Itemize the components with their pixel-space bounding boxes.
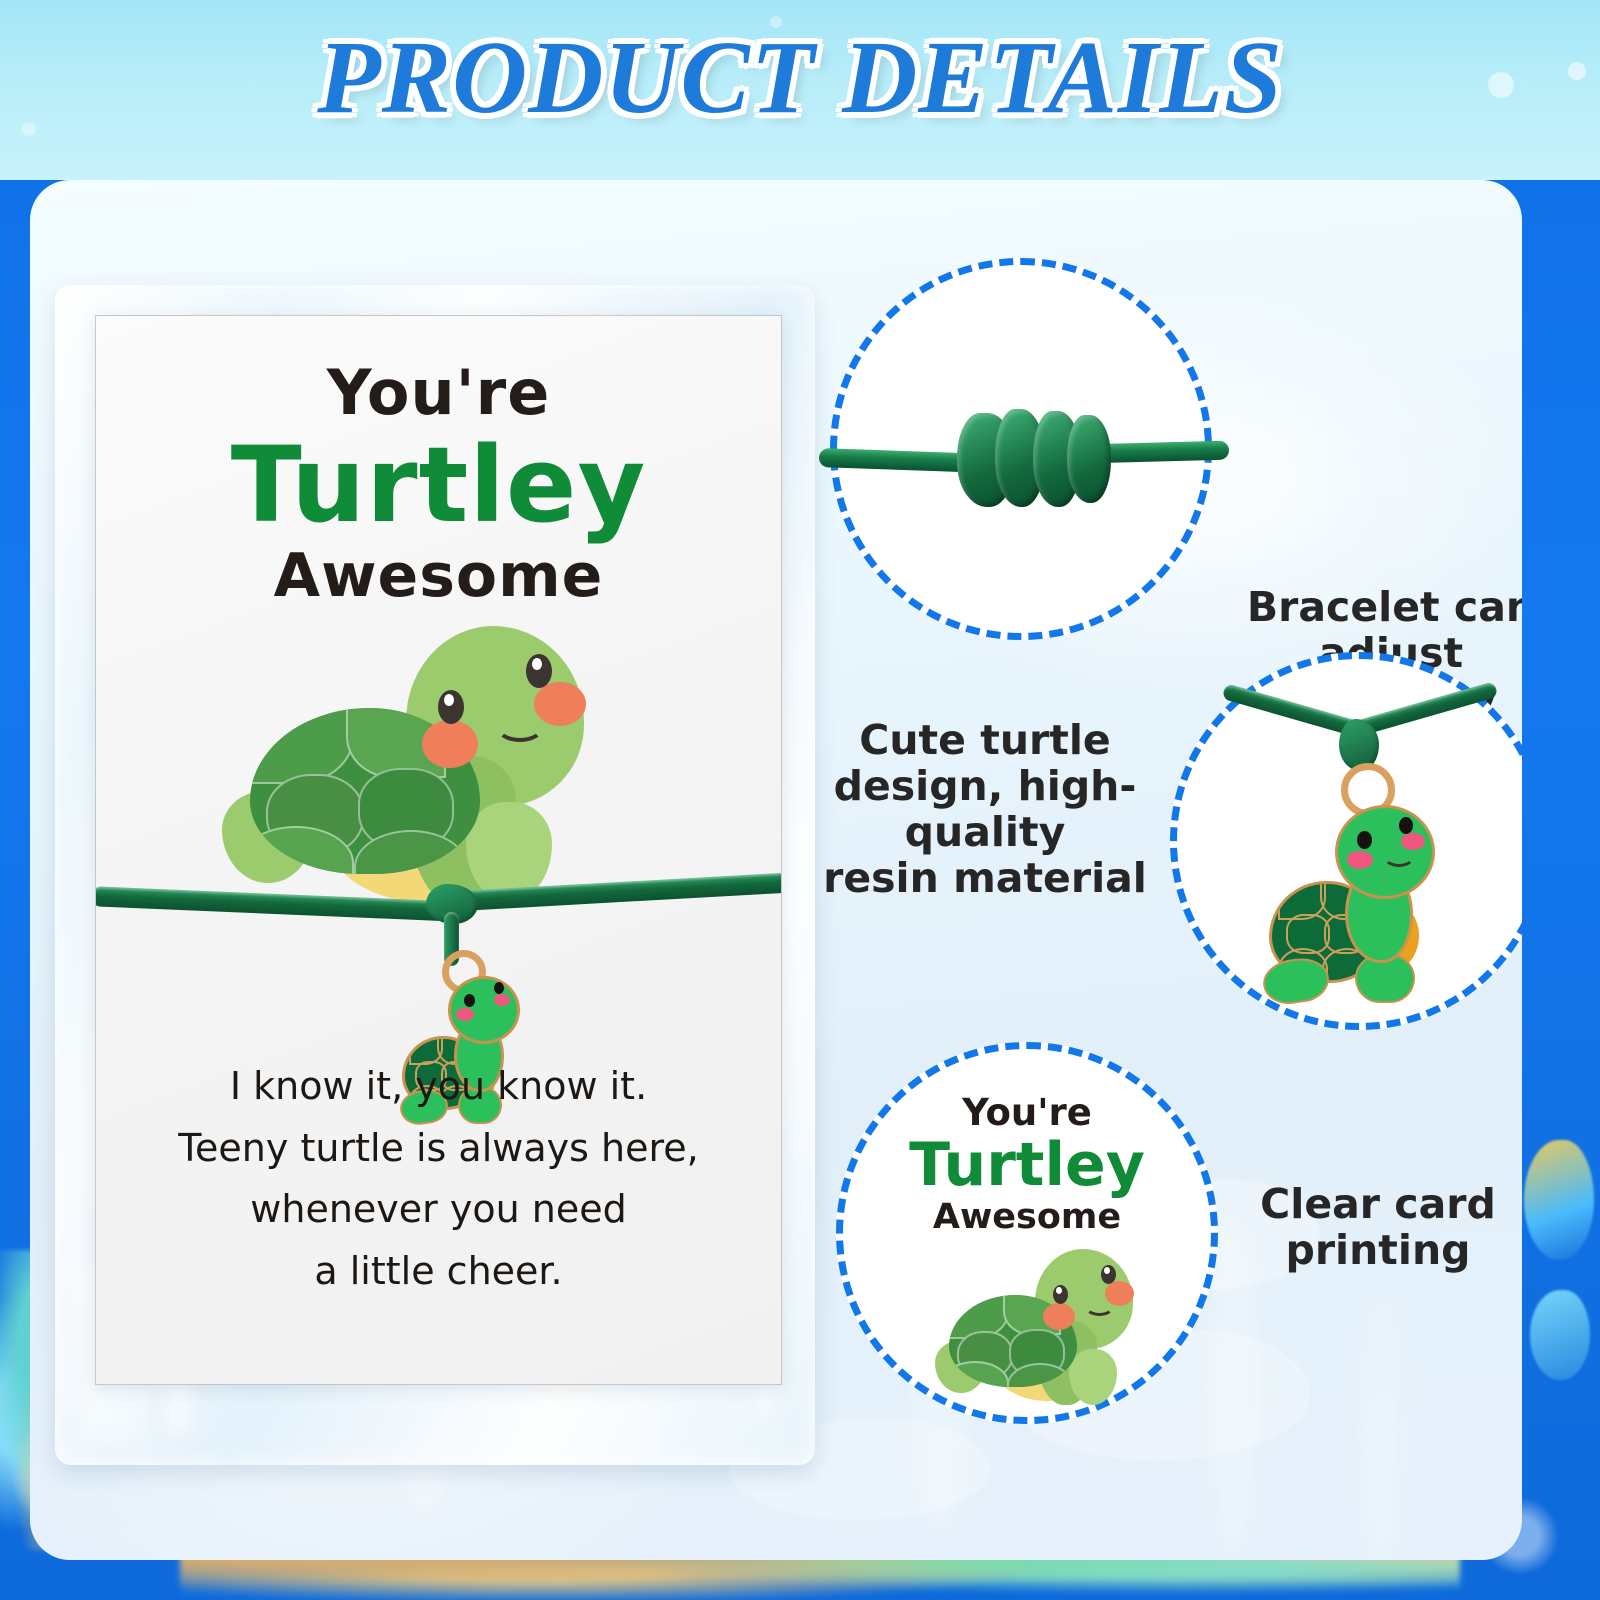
feature-circle-adjustable-knot [830, 258, 1212, 640]
fish-right [1524, 1140, 1594, 1260]
card-message-line: whenever you need [96, 1179, 781, 1241]
greeting-card: You're Turtley Awesome [95, 315, 782, 1385]
turtle-cheek-left [1043, 1303, 1075, 1330]
card-line-2: Turtley [96, 429, 781, 541]
charm-cheek-left [1347, 851, 1373, 869]
card-message-line: Teeny turtle is always here, [96, 1118, 781, 1180]
page-title: PRODUCT DETAILS [0, 18, 1600, 137]
mini-cartoon-turtle [931, 1245, 1161, 1405]
mini-card-line-3: Awesome [867, 1197, 1187, 1237]
card-message-line: a little cheer. [96, 1241, 781, 1303]
charm-eye-right [494, 982, 504, 994]
mini-card-line-2: Turtley [867, 1134, 1187, 1197]
turtle-eye-right [526, 654, 552, 688]
feature-label-line: Cute turtle [820, 718, 1150, 764]
feature-label-line: design, high- [820, 764, 1150, 810]
charm-cheek-left [456, 1008, 474, 1021]
mini-card-print: You're Turtley Awesome [867, 1091, 1187, 1237]
cartoon-turtle-illustration [216, 616, 636, 906]
feature-circle-card-printing: You're Turtley Awesome [836, 1042, 1218, 1424]
turtle-smile [1085, 1297, 1114, 1316]
turtle-smile [496, 712, 544, 742]
charm-eye-left [464, 994, 475, 1007]
sliding-knot-loop [1067, 415, 1111, 503]
turtle-front-leg [1069, 1349, 1117, 1405]
feature-label-card-printing: Clear card printing [1228, 1182, 1522, 1274]
feature-label-line: Bracelet can [1226, 585, 1522, 631]
charm-smile [1383, 845, 1415, 867]
card-line-3: Awesome [96, 541, 781, 611]
fish-right-lower [1530, 1290, 1590, 1380]
content-panel: You're Turtley Awesome [30, 180, 1522, 1560]
water-streak [1360, 1300, 1404, 1560]
turtle-cheek-left [422, 720, 478, 768]
product-details-infographic: PRODUCT DETAILS You're Turtley Awesome [0, 0, 1600, 1600]
mini-card-line-1: You're [867, 1091, 1187, 1134]
card-headline: You're Turtley Awesome [96, 356, 781, 611]
feature-label-turtle-charm: Cute turtle design, high- quality resin … [820, 718, 1150, 902]
turtle-eye-left [1053, 1285, 1068, 1304]
feature-label-line: resin material [820, 856, 1150, 902]
card-line-1: You're [96, 356, 781, 429]
charm-eye-left [1357, 831, 1372, 849]
shell-segment [250, 708, 354, 784]
charm-eye-right [1399, 817, 1413, 834]
feature-label-line: printing [1228, 1228, 1522, 1274]
turtle-eye-left [438, 690, 464, 724]
feature-circle-turtle-charm [1170, 652, 1522, 1030]
charm-cord-right [1354, 681, 1499, 737]
turtle-eye-right [1101, 1265, 1116, 1284]
card-message: I know it, you know it. Teeny turtle is … [96, 1056, 781, 1302]
feature-label-line: quality [820, 810, 1150, 856]
feature-label-line: Clear card [1228, 1182, 1522, 1228]
card-message-line: I know it, you know it. [96, 1056, 781, 1118]
turtle-resin-charm [1259, 789, 1469, 999]
charm-cheek-right [494, 994, 510, 1006]
